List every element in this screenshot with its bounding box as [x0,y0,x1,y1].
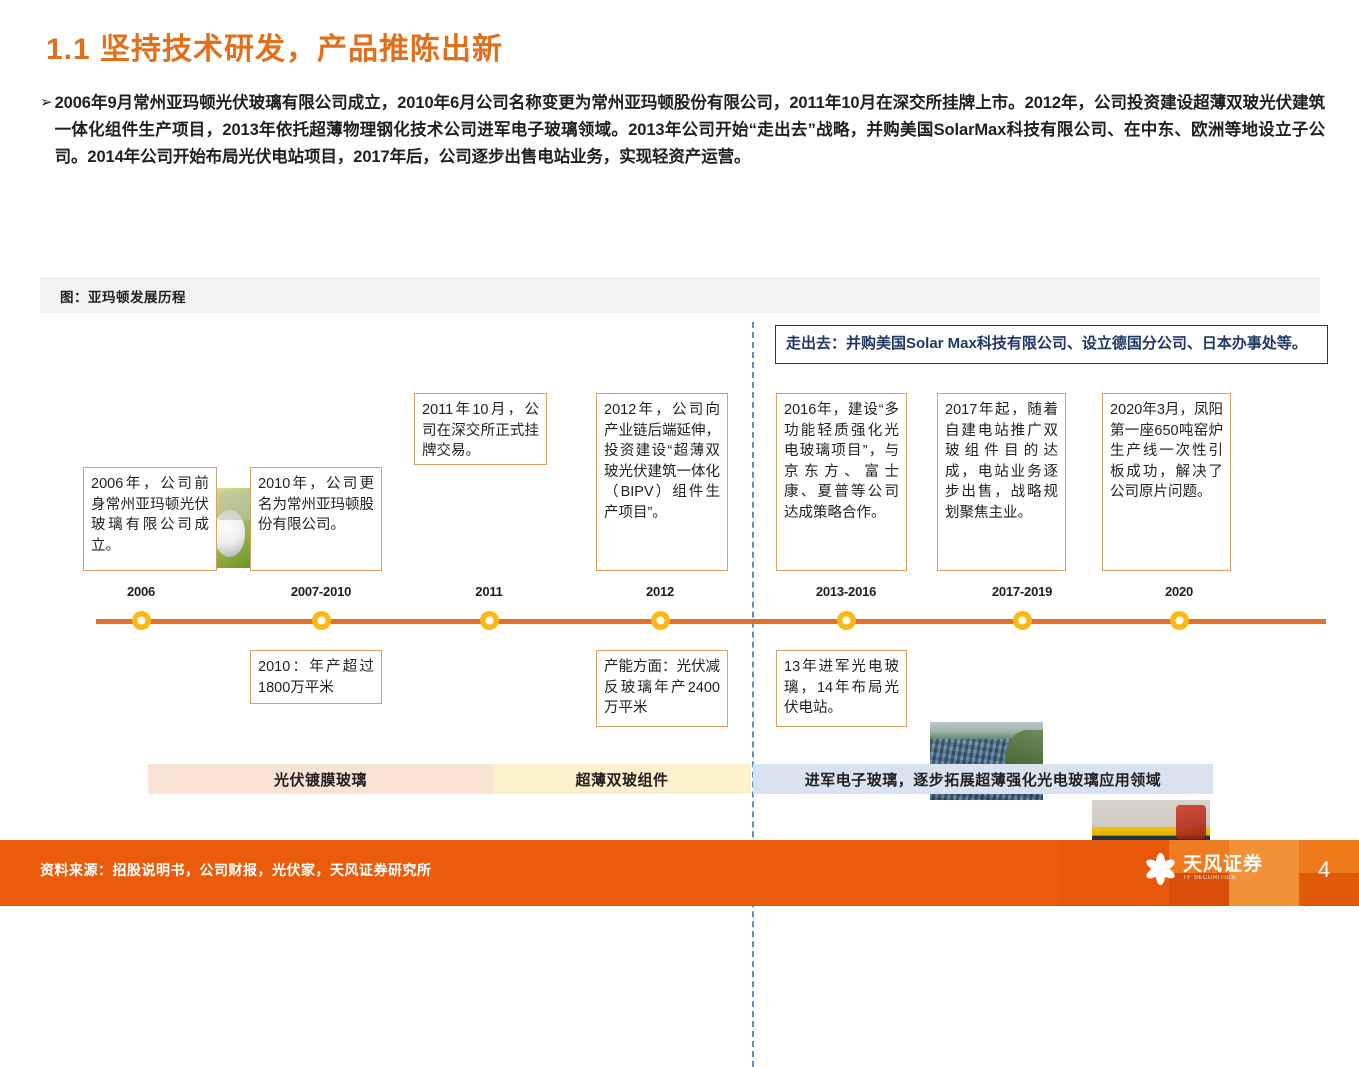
intro-paragraph-text: 2006年9月常州亚玛顿光伏玻璃有限公司成立，2010年6月公司名称变更为常州亚… [55,90,1325,171]
event-box-2010-capacity: 2010：年产超过1800万平米 [250,650,382,704]
event-box-2012-capacity: 产能方面：光伏减反玻璃年产2400万平米 [596,650,728,727]
event-box-2012: 2012年，公司向产业链后端延伸，投资建设“超薄双玻光伏建筑一体化（BIPV）组… [596,393,728,571]
company-logo: 天风证券 TF SECURITIES [1143,852,1263,886]
event-box-2020: 2020年3月，凤阳第一座650吨窑炉生产线一次性引板成功，解决了公司原片问题。 [1102,393,1231,571]
go-global-highlight-box: 走出去：并购美国Solar Max科技有限公司、设立德国分公司、日本办事处等。 [775,325,1328,364]
axis-node-2006[interactable] [132,611,151,630]
axis-label-2012: 2012 [646,584,674,599]
event-box-2017: 2017年起，随着自建电站推广双玻组件目的达成，电站业务逐步出售，战略规划聚焦主… [937,393,1066,571]
event-box-2010: 2010年，公司更名为常州亚玛顿股份有限公司。 [250,467,382,571]
source-note: 资料来源：招股说明书，公司财报，光伏家，天风证券研究所 [40,860,432,880]
axis-label-2017-2019: 2017-2019 [992,584,1052,599]
axis-node-2011[interactable] [480,611,499,630]
event-box-2016: 2016年，建设“多功能轻质强化光电玻璃项目”，与京东方、富士康、夏普等公司达成… [776,393,907,571]
axis-node-2017-2019[interactable] [1013,611,1032,630]
category-bar-coated-glass: 光伏镀膜玻璃 [148,764,493,794]
logo-name-en: TF SECURITIES [1183,874,1263,883]
phase-divider [752,322,754,1067]
timeline-axis-line [96,619,1326,624]
figure-caption: 图：亚玛顿发展历程 [60,286,186,306]
timeline-figure: 图：亚玛顿发展历程 走出去：并购美国Solar Max科技有限公司、设立德国分公… [40,277,1320,807]
factory-workers-detail [1176,805,1207,839]
axis-label-2006: 2006 [127,584,155,599]
intro-paragraph: ➢ 2006年9月常州亚玛顿光伏玻璃有限公司成立，2010年6月公司名称变更为常… [40,90,1325,171]
category-bar-double-glass: 超薄双玻组件 [493,764,751,794]
event-box-2013-electronic-glass: 13年进军光电玻璃，14年布局光伏电站。 [776,650,907,727]
axis-node-2013-2016[interactable] [837,611,856,630]
page-number: 4 [1318,857,1330,883]
axis-node-2020[interactable] [1170,611,1189,630]
page-title: 1.1 坚持技术研发，产品推陈出新 [46,24,503,68]
axis-label-2007-2010: 2007-2010 [291,584,351,599]
axis-label-2020: 2020 [1165,584,1193,599]
bullet-arrow-icon: ➢ [40,90,53,116]
logo-text-block: 天风证券 TF SECURITIES [1183,855,1263,883]
axis-label-2013-2016: 2013-2016 [816,584,876,599]
figure-caption-bar [40,277,1320,313]
axis-node-2007-2010[interactable] [312,611,331,630]
axis-label-2011: 2011 [475,584,502,599]
event-box-2006: 2006年，公司前身常州亚玛顿光伏玻璃有限公司成立。 [83,467,217,571]
flower-logo-icon [1143,852,1177,886]
category-bar-electronic-glass: 进军电子玻璃，逐步拓展超薄强化光电玻璃应用领域 [753,764,1213,794]
axis-node-2012[interactable] [651,611,670,630]
logo-name-cn: 天风证券 [1183,855,1263,874]
event-box-2011: 2011年10月，公司在深交所正式挂牌交易。 [414,393,547,465]
